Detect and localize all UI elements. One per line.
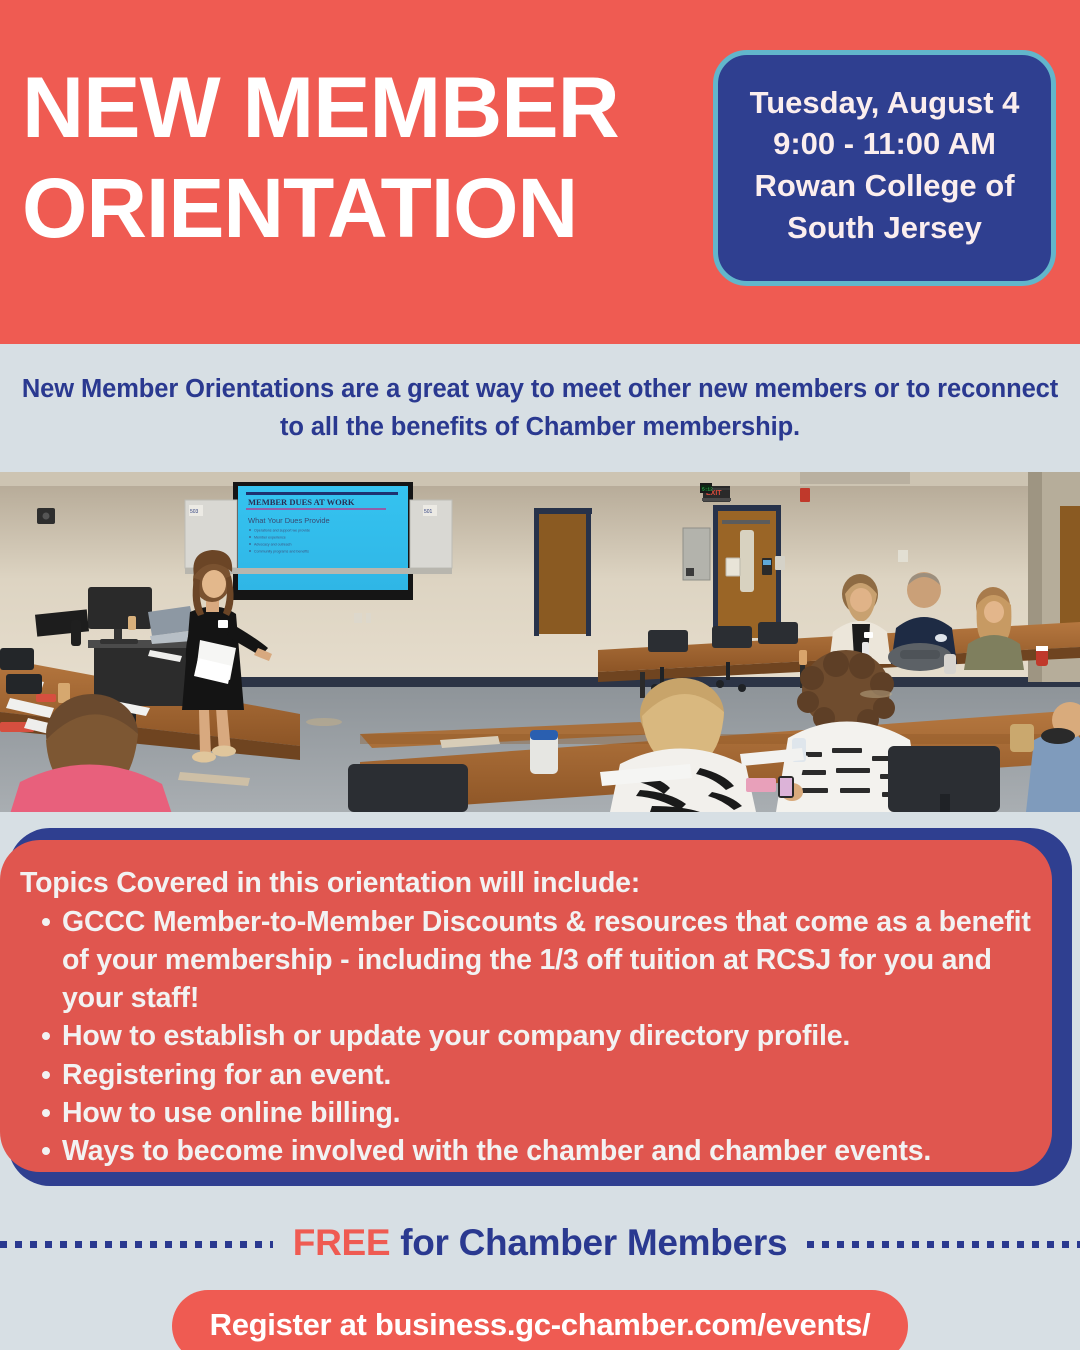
badge-date: Tuesday, August 4 bbox=[750, 82, 1020, 124]
intro-section: New Member Orientations are a great way … bbox=[0, 344, 1080, 472]
bullet-icon bbox=[42, 1147, 50, 1155]
topics-item-text: Ways to become involved with the chamber… bbox=[62, 1135, 931, 1167]
bullet-icon bbox=[42, 1071, 50, 1079]
topics-list-item: How to use online billing. bbox=[14, 1094, 1032, 1132]
cta-row: Register at business.gc-chamber.com/even… bbox=[0, 1290, 1080, 1350]
svg-text:Advocacy and outreach: Advocacy and outreach bbox=[254, 542, 292, 546]
register-button[interactable]: Register at business.gc-chamber.com/even… bbox=[172, 1290, 909, 1350]
event-details-badge: Tuesday, August 4 9:00 - 11:00 AM Rowan … bbox=[713, 50, 1056, 286]
topics-list-item: How to establish or update your company … bbox=[14, 1017, 1032, 1055]
svg-text:MEMBER DUES AT WORK: MEMBER DUES AT WORK bbox=[248, 497, 355, 507]
dotted-rule-right bbox=[807, 1241, 1080, 1248]
page-title: NEW MEMBER ORIENTATION bbox=[22, 58, 702, 259]
bullet-icon bbox=[42, 918, 50, 926]
svg-text:Community programs and benefit: Community programs and benefits bbox=[254, 549, 309, 553]
dotted-rule-left bbox=[0, 1241, 273, 1248]
bullet-icon bbox=[42, 1109, 50, 1117]
free-label: FREE bbox=[293, 1222, 390, 1263]
topics-list-item: GCCC Member-to-Member Discounts & resour… bbox=[14, 903, 1032, 1018]
topics-item-text: How to use online billing. bbox=[62, 1097, 400, 1129]
topics-item-text: GCCC Member-to-Member Discounts & resour… bbox=[62, 906, 1031, 1014]
title-line-2: ORIENTATION bbox=[22, 159, 702, 258]
topics-item-text: How to establish or update your company … bbox=[62, 1020, 850, 1052]
pricing-text: FREE for Chamber Members bbox=[293, 1222, 787, 1264]
badge-time: 9:00 - 11:00 AM bbox=[773, 123, 996, 165]
intro-text: New Member Orientations are a great way … bbox=[18, 370, 1063, 447]
event-photo-illustration: MEMBER DUES AT WORK What Your Dues Provi… bbox=[0, 472, 1080, 812]
title-line-1: NEW MEMBER bbox=[22, 58, 702, 159]
svg-text:Member experience: Member experience bbox=[254, 535, 286, 539]
flyer-canvas: NEW MEMBER ORIENTATION Tuesday, August 4… bbox=[0, 0, 1080, 1350]
event-photo: MEMBER DUES AT WORK What Your Dues Provi… bbox=[0, 472, 1080, 812]
topics-list: GCCC Member-to-Member Discounts & resour… bbox=[14, 903, 1032, 1170]
svg-text:What Your Dues Provide: What Your Dues Provide bbox=[248, 516, 330, 525]
pricing-row: FREE for Chamber Members bbox=[0, 1212, 1080, 1274]
topics-heading: Topics Covered in this orientation will … bbox=[20, 866, 1032, 901]
bullet-icon bbox=[42, 1032, 50, 1040]
pricing-suffix: for Chamber Members bbox=[390, 1222, 787, 1263]
svg-text:501: 501 bbox=[424, 509, 433, 515]
svg-text:503: 503 bbox=[190, 509, 199, 515]
topics-box: Topics Covered in this orientation will … bbox=[0, 840, 1052, 1172]
svg-text:5:12: 5:12 bbox=[702, 487, 713, 493]
topics-item-text: Registering for an event. bbox=[62, 1059, 391, 1091]
topics-list-item: Ways to become involved with the chamber… bbox=[14, 1132, 1032, 1170]
badge-venue-line-1: Rowan College of bbox=[754, 165, 1014, 207]
badge-venue-line-2: South Jersey bbox=[787, 207, 982, 249]
topics-list-item: Registering for an event. bbox=[14, 1056, 1032, 1094]
svg-text:Operations and support we prov: Operations and support we provide bbox=[254, 528, 310, 532]
header-banner: NEW MEMBER ORIENTATION Tuesday, August 4… bbox=[0, 0, 1080, 344]
